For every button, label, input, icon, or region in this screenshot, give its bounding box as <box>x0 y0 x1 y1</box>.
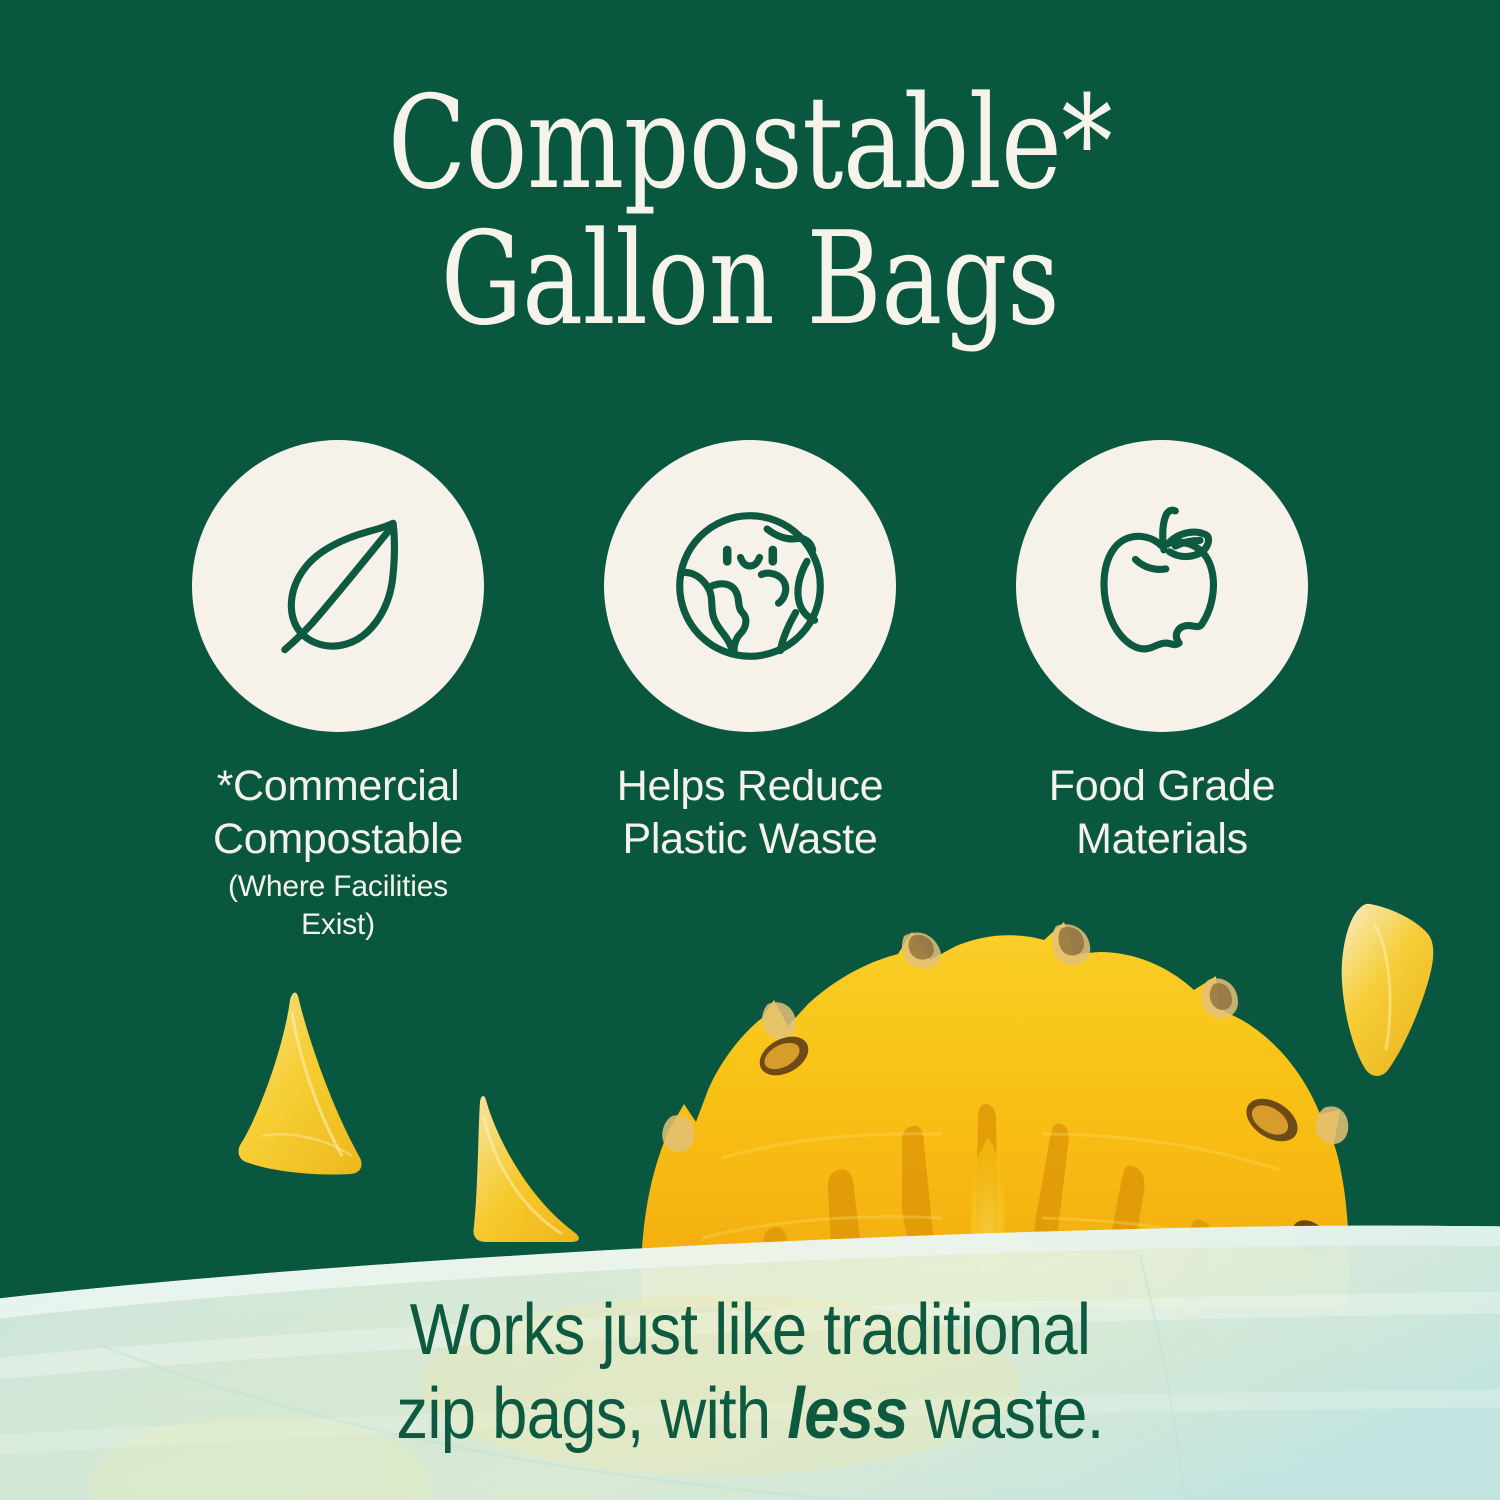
tagline-line-2-before: zip bags, with <box>396 1374 787 1454</box>
headline-line-1: Compostable* <box>150 76 1350 212</box>
product-marketing-image: Compostable* Gallon Bags *Commercial Com… <box>0 0 1500 1500</box>
headline-line-2: Gallon Bags <box>150 212 1350 348</box>
apple-badge <box>1016 440 1308 732</box>
tagline-line-1: Works just like traditional <box>90 1288 1410 1372</box>
tagline-emphasis: less <box>787 1374 908 1454</box>
globe-badge <box>604 440 896 732</box>
apple-bitten-icon <box>1067 491 1257 681</box>
page-title: Compostable* Gallon Bags <box>150 76 1350 348</box>
leaf-icon <box>243 491 433 681</box>
tagline-line-2-after: waste. <box>908 1374 1104 1454</box>
pineapple-chunk-left <box>232 990 402 1190</box>
tagline: Works just like traditional zip bags, wi… <box>90 1288 1410 1456</box>
globe-smiling-icon <box>655 491 845 681</box>
leaf-badge <box>192 440 484 732</box>
tagline-line-2: zip bags, with less waste. <box>90 1372 1410 1456</box>
